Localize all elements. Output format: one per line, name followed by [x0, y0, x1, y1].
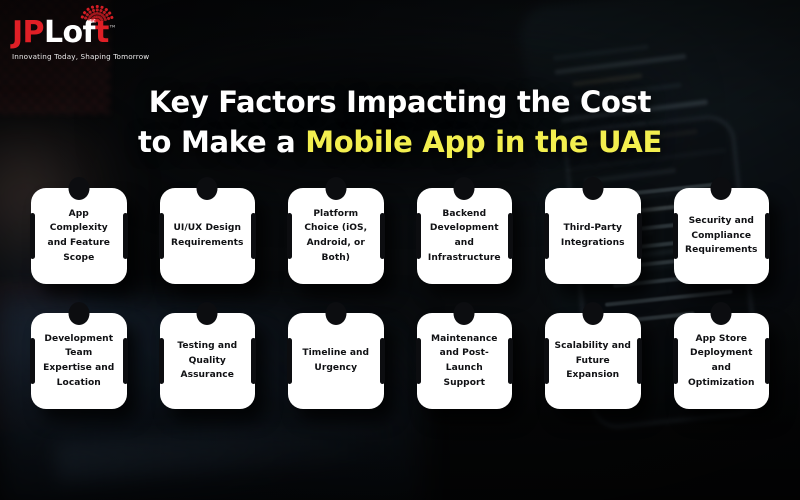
logo-text-t: t	[95, 15, 109, 50]
card-left-bar	[416, 338, 421, 384]
factor-card[interactable]: UI/UX Design Requirements	[160, 188, 256, 284]
factor-card[interactable]: Timeline and Urgency	[288, 313, 384, 409]
card-left-bar	[544, 213, 549, 259]
card-right-bar	[637, 338, 642, 384]
factor-card[interactable]: Backend Development and Infrastructure	[417, 188, 513, 284]
logo-trademark-symbol: ™	[109, 24, 116, 33]
card-right-bar	[765, 213, 770, 259]
factor-card[interactable]: Platform Choice (iOS, Android, or Both)	[288, 188, 384, 284]
factor-card-label: Backend Development and Infrastructure	[426, 207, 504, 266]
background-code-line	[555, 54, 687, 75]
brand-tagline: Innovating Today, Shaping Tomorrow	[12, 52, 142, 61]
card-left-bar	[544, 338, 549, 384]
page-title-highlight: Mobile App in the UAE	[305, 125, 662, 159]
factor-card-grid: App Complexity and Feature ScopeUI/UX De…	[31, 188, 769, 409]
logo-text-f: f	[83, 15, 95, 50]
factor-card[interactable]: App Complexity and Feature Scope	[31, 188, 127, 284]
factor-card[interactable]: Testing and Quality Assurance	[160, 313, 256, 409]
factor-card-label: Maintenance and Post-Launch Support	[426, 332, 504, 391]
factor-card-label: Platform Choice (iOS, Android, or Both)	[297, 207, 375, 266]
factor-card-label: Third-Party Integrations	[554, 221, 632, 250]
factor-card-label: App Store Deployment and Optimization	[683, 332, 761, 391]
factor-card-label: UI/UX Design Requirements	[169, 221, 247, 250]
card-left-bar	[30, 213, 35, 259]
card-left-bar	[287, 338, 292, 384]
logo-text-jp: JP	[12, 15, 44, 50]
factor-card[interactable]: Third-Party Integrations	[545, 188, 641, 284]
logo-text-o: o	[62, 15, 82, 50]
factor-card-label: App Complexity and Feature Scope	[40, 207, 118, 266]
factor-card[interactable]: Security and Compliance Requirements	[674, 188, 770, 284]
background-code-line	[553, 44, 649, 61]
infographic-canvas: JPLoft™ Innovating Today, Shaping Tomorr…	[0, 0, 800, 500]
card-left-bar	[416, 213, 421, 259]
factor-card-label: Scalability and Future Expansion	[554, 339, 632, 383]
card-left-bar	[30, 338, 35, 384]
factor-card[interactable]: App Store Deployment and Optimization	[674, 313, 770, 409]
page-title-line-1: Key Factors Impacting the Cost	[0, 82, 800, 122]
page-title-line-2: to Make a Mobile App in the UAE	[0, 122, 800, 162]
factor-card-label: Development Team Expertise and Location	[40, 332, 118, 391]
logo-text-l: L	[44, 15, 63, 50]
factor-card-label: Timeline and Urgency	[297, 346, 375, 375]
card-right-bar	[251, 338, 256, 384]
card-left-bar	[673, 213, 678, 259]
factor-card-label: Testing and Quality Assurance	[169, 339, 247, 383]
factor-card[interactable]: Development Team Expertise and Location	[31, 313, 127, 409]
card-left-bar	[159, 338, 164, 384]
brand-logo: JPLoft™ Innovating Today, Shaping Tomorr…	[12, 18, 142, 61]
factor-card[interactable]: Scalability and Future Expansion	[545, 313, 641, 409]
card-left-bar	[159, 213, 164, 259]
card-right-bar	[251, 213, 256, 259]
factor-card[interactable]: Maintenance and Post-Launch Support	[417, 313, 513, 409]
card-left-bar	[287, 213, 292, 259]
card-right-bar	[508, 213, 513, 259]
card-right-bar	[123, 213, 128, 259]
brand-logo-wordmark: JPLoft™	[12, 18, 142, 48]
card-left-bar	[673, 338, 678, 384]
card-right-bar	[123, 338, 128, 384]
card-right-bar	[765, 338, 770, 384]
background-laptop-edge	[54, 421, 386, 484]
factor-card-label: Security and Compliance Requirements	[683, 214, 761, 258]
card-right-bar	[380, 338, 385, 384]
page-title: Key Factors Impacting the Cost to Make a…	[0, 82, 800, 162]
card-right-bar	[637, 213, 642, 259]
card-right-bar	[380, 213, 385, 259]
page-title-line-2-plain: to Make a	[138, 125, 305, 159]
card-right-bar	[508, 338, 513, 384]
